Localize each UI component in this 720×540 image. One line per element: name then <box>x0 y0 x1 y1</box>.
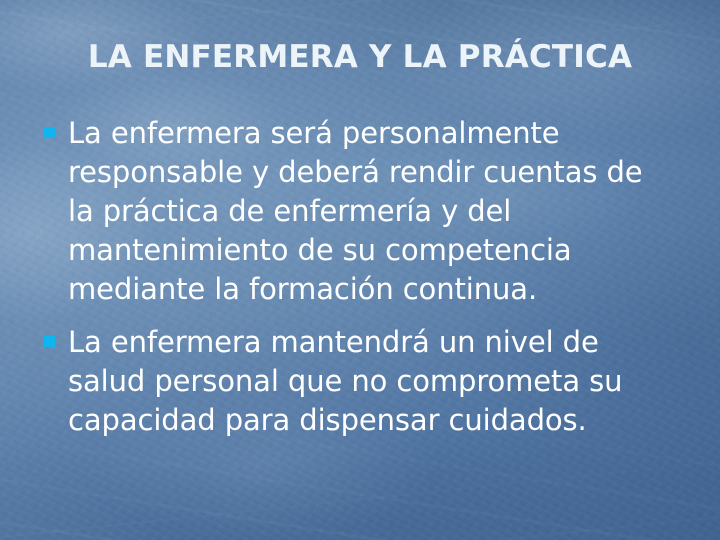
slide-title: LA ENFERMERA Y LA PRÁCTICA <box>20 40 700 74</box>
slide-body: La enfermera será personalmente responsa… <box>44 114 696 440</box>
square-bullet-icon <box>44 127 55 138</box>
bullet-list-item: La enfermera será personalmente responsa… <box>44 114 696 309</box>
bullet-item-text: La enfermera será personalmente responsa… <box>68 114 668 309</box>
bullet-item-text: La enfermera mantendrá un nivel de salud… <box>68 323 658 440</box>
slide-content: LA ENFERMERA Y LA PRÁCTICA La enfermera … <box>0 0 720 540</box>
presentation-slide: LA ENFERMERA Y LA PRÁCTICA La enfermera … <box>0 0 720 540</box>
bullet-list-item: La enfermera mantendrá un nivel de salud… <box>44 323 696 440</box>
square-bullet-icon <box>44 336 55 347</box>
